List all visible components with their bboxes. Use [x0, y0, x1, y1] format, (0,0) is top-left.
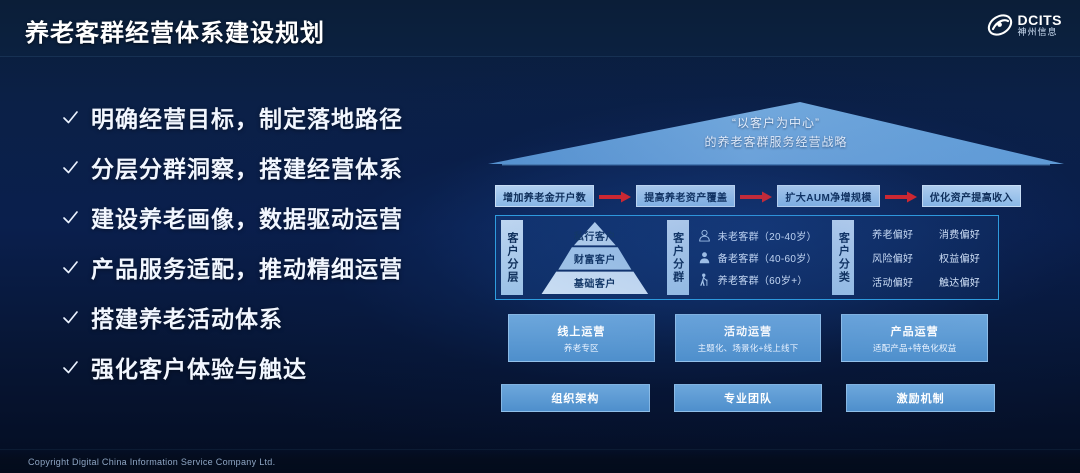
check-icon	[62, 109, 79, 126]
list-item: 养老客群（60岁+）	[698, 272, 828, 287]
strategy-roof-shape: “以客户为中心” 的养老客群服务经营战略	[488, 92, 1064, 172]
segment-vertical-label: 客户分群	[667, 220, 689, 295]
check-icon	[62, 359, 79, 376]
list-item-label: 产品服务适配，推动精细运营	[91, 250, 403, 284]
arrow-right-icon	[740, 190, 772, 202]
preference-tag: 养老偏好	[872, 226, 913, 241]
foundation-card[interactable]: 专业团队	[674, 384, 823, 412]
segment-classification: 客户分类 养老偏好 消费偏好 风险偏好 权益偏好 活动偏好 触达偏好	[832, 220, 993, 295]
brand-logo: DCITS 神州信息	[987, 12, 1063, 38]
list-item-label: 备老客群（40-60岁）	[718, 250, 817, 265]
list-item-label: 明确经营目标，制定落地路径	[91, 100, 403, 134]
customer-tier-pyramid: 私行客户 财富客户 基础客户	[528, 220, 662, 295]
logo-text-cn: 神州信息	[1018, 28, 1063, 37]
operation-card[interactable]: 线上运营 养老专区	[508, 314, 655, 362]
preference-tag: 风险偏好	[872, 250, 913, 265]
slide-header: 养老客群经营体系建设规划 DCITS 神州信息	[0, 0, 1080, 57]
goal-box[interactable]: 扩大AUM净增规模	[777, 185, 879, 207]
preference-tag: 活动偏好	[872, 274, 913, 289]
arrow-right-icon	[885, 190, 917, 202]
operation-card-subtitle: 适配产品+特色化权益	[873, 342, 956, 354]
copyright-text: Copyright Digital China Information Serv…	[28, 457, 275, 467]
slide-footer: Copyright Digital China Information Serv…	[0, 449, 1080, 473]
operation-card[interactable]: 产品运营 适配产品+特色化权益	[841, 314, 988, 362]
list-item-label: 分层分群洞察，搭建经营体系	[91, 150, 403, 184]
check-icon	[62, 209, 79, 226]
list-item: 强化客户体验与触达	[62, 350, 462, 384]
pyramid-tier-top: 私行客户	[560, 222, 630, 244]
preference-tag: 触达偏好	[939, 274, 980, 289]
operations-row: 线上运营 养老专区 活动运营 主题化、场景化+线上线下 产品运营 适配产品+特色…	[508, 314, 988, 362]
dcits-swirl-icon	[987, 12, 1013, 38]
list-item: 产品服务适配，推动精细运营	[62, 250, 462, 284]
list-item-label: 养老客群（60岁+）	[718, 272, 808, 287]
young-person-icon	[698, 229, 711, 242]
customer-segmentation-panel: 客户分层 私行客户 财富客户	[495, 215, 999, 300]
segment-vertical-label: 客户分层	[501, 220, 523, 295]
list-item-label: 未老客群（20-40岁）	[718, 228, 817, 243]
operation-card-subtitle: 主题化、场景化+线上线下	[698, 342, 799, 354]
list-item: 备老客群（40-60岁）	[698, 250, 828, 265]
check-icon	[62, 309, 79, 326]
preference-tag: 消费偏好	[939, 226, 980, 241]
foundation-card-title: 专业团队	[724, 390, 772, 406]
goal-box[interactable]: 优化资产提高收入	[922, 185, 1021, 207]
goal-box[interactable]: 提高养老资产覆盖	[636, 185, 735, 207]
operation-card-title: 线上运营	[557, 323, 605, 339]
goal-box[interactable]: 增加养老金开户数	[495, 185, 594, 207]
list-item: 建设养老画像，数据驱动运营	[62, 200, 462, 234]
segment-tiering: 客户分层 私行客户 财富客户	[501, 220, 662, 295]
foundation-row: 组织架构 专业团队 激励机制	[501, 384, 995, 412]
list-item: 未老客群（20-40岁）	[698, 228, 828, 243]
adult-person-icon	[698, 251, 711, 264]
check-icon	[62, 259, 79, 276]
list-item: 搭建养老活动体系	[62, 300, 462, 334]
strategy-diagram: “以客户为中心” 的养老客群服务经营战略 增加养老金开户数 提高养老资产覆盖 扩…	[488, 92, 1064, 432]
operation-card[interactable]: 活动运营 主题化、场景化+线上线下	[675, 314, 822, 362]
foundation-card-title: 激励机制	[897, 390, 945, 406]
slide-canvas: 养老客群经营体系建设规划 DCITS 神州信息 明确经营目	[0, 0, 1080, 473]
list-item-label: 搭建养老活动体系	[91, 300, 283, 334]
elder-cane-icon	[698, 273, 711, 286]
list-item: 分层分群洞察，搭建经营体系	[62, 150, 462, 184]
key-points-list: 明确经营目标，制定落地路径 分层分群洞察，搭建经营体系 建设养老画像，数据驱动运…	[62, 100, 462, 384]
list-item-label: 建设养老画像，数据驱动运营	[91, 200, 403, 234]
segment-grouping: 客户分群 未老客群（20-40岁）	[667, 220, 828, 295]
check-icon	[62, 159, 79, 176]
preference-tag: 权益偏好	[939, 250, 980, 265]
list-item: 明确经营目标，制定落地路径	[62, 100, 462, 134]
operation-card-title: 活动运营	[724, 323, 772, 339]
pyramid-tier-base: 基础客户	[545, 269, 645, 292]
operation-card-title: 产品运营	[891, 323, 939, 339]
pyramid-tier-middle: 财富客户	[553, 245, 637, 267]
customer-group-list: 未老客群（20-40岁） 备老客群（40-60岁）	[694, 228, 828, 287]
page-title: 养老客群经营体系建设规划	[25, 13, 325, 48]
arrow-right-icon	[599, 190, 631, 202]
customer-preference-grid: 养老偏好 消费偏好 风险偏好 权益偏好 活动偏好 触达偏好	[859, 220, 993, 295]
foundation-card-title: 组织架构	[551, 390, 599, 406]
goal-chain: 增加养老金开户数 提高养老资产覆盖 扩大AUM净增规模	[495, 185, 1000, 207]
list-item-label: 强化客户体验与触达	[91, 350, 307, 384]
logo-text-en: DCITS	[1018, 13, 1063, 28]
foundation-card[interactable]: 激励机制	[846, 384, 995, 412]
segment-vertical-label: 客户分类	[832, 220, 854, 295]
foundation-card[interactable]: 组织架构	[501, 384, 650, 412]
operation-card-subtitle: 养老专区	[564, 342, 599, 354]
